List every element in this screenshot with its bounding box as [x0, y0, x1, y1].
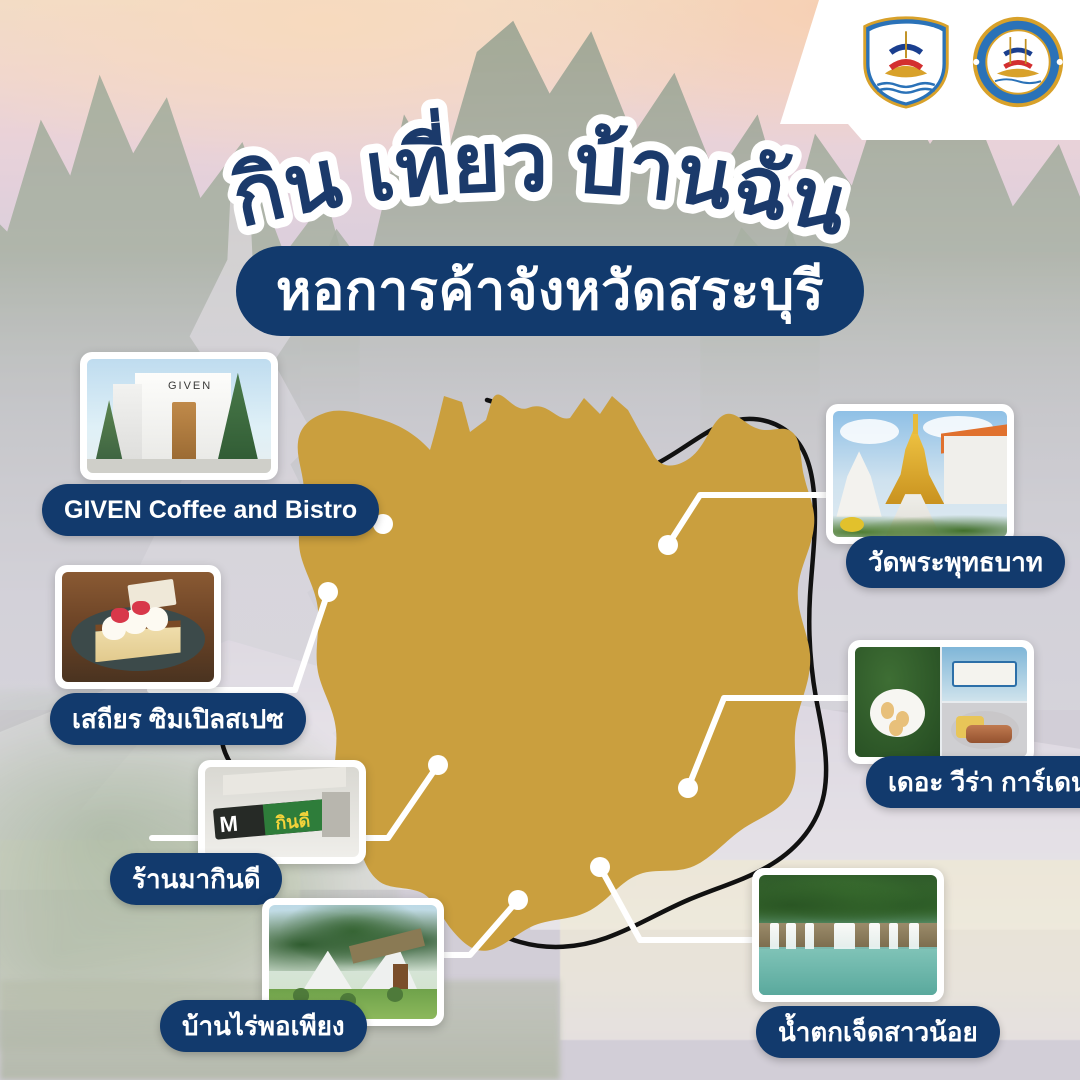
place-label-text: เสถียร ซิมเปิลสเปซ [72, 699, 284, 740]
province-shape [298, 394, 815, 950]
organization-name-text: หอการค้าจังหวัดสระบุรี [276, 264, 824, 318]
poster-canvas: กิน เที่ยว บ้านฉัน กิน เที่ยว บ้านฉัน หอ… [0, 0, 1080, 1080]
poster-title: กิน เที่ยว บ้านฉัน กิน เที่ยว บ้านฉัน [0, 118, 1080, 248]
board-of-trade-of-thailand-logo [970, 14, 1066, 110]
place-card-sathian-simple-space[interactable]: เสถียร ซิมเปิลสเปซ [55, 565, 221, 689]
place-label-wat-phra-phutthabat[interactable]: วัดพระพุทธบาท [846, 536, 1065, 588]
place-label-sathian-simple-space[interactable]: เสถียร ซิมเปิลสเปซ [50, 693, 306, 745]
cheesecake-dessert-photo [55, 565, 221, 689]
place-card-raan-ma-kin-dee[interactable]: M กินดี ร้านมากินดี [198, 760, 366, 864]
place-label-raan-ma-kin-dee[interactable]: ร้านมากินดี [110, 853, 282, 905]
place-card-chet-sao-noi-waterfall[interactable]: น้ำตกเจ็ดสาวน้อย [752, 868, 944, 1002]
place-label-given-coffee-and-bistro[interactable]: GIVEN Coffee and Bistro [42, 484, 379, 536]
place-label-baan-rai-por-piang[interactable]: บ้านไร่พอเพียง [160, 1000, 367, 1052]
shop-signboard-photo: M กินดี [198, 760, 366, 864]
place-label-text: เดอะ วีร่า การ์เดน [888, 762, 1080, 803]
place-label-chet-sao-noi-waterfall[interactable]: น้ำตกเจ็ดสาวน้อย [756, 1006, 1000, 1058]
place-card-the-vera-garden[interactable]: เดอะ วีร่า การ์เดน [848, 640, 1034, 764]
place-label-text: บ้านไร่พอเพียง [182, 1006, 345, 1047]
place-label-text: น้ำตกเจ็ดสาวน้อย [778, 1012, 978, 1053]
given-coffee-building-photo: GIVEN [80, 352, 278, 480]
logo-row [858, 14, 1066, 110]
place-card-baan-rai-por-piang[interactable]: บ้านไร่พอเพียง [262, 898, 444, 1026]
food-collage-photo [848, 640, 1034, 764]
place-label-text: GIVEN Coffee and Bistro [64, 496, 357, 525]
place-label-the-vera-garden[interactable]: เดอะ วีร่า การ์เดน [866, 756, 1080, 808]
title-text-fill: กิน เที่ยว บ้านฉัน [224, 107, 858, 253]
place-card-wat-phra-phutthabat[interactable]: วัดพระพุทธบาท [826, 404, 1014, 544]
organization-name-pill: หอการค้าจังหวัดสระบุรี [236, 246, 864, 336]
thai-chamber-of-commerce-logo [858, 14, 954, 110]
place-label-text: ร้านมากินดี [132, 859, 260, 900]
golden-temple-photo [826, 404, 1014, 544]
place-label-text: วัดพระพุทธบาท [868, 542, 1043, 583]
waterfall-photo [752, 868, 944, 1002]
place-card-given-coffee-and-bistro[interactable]: GIVEN GIVEN Coffee and Bistro [80, 352, 278, 480]
